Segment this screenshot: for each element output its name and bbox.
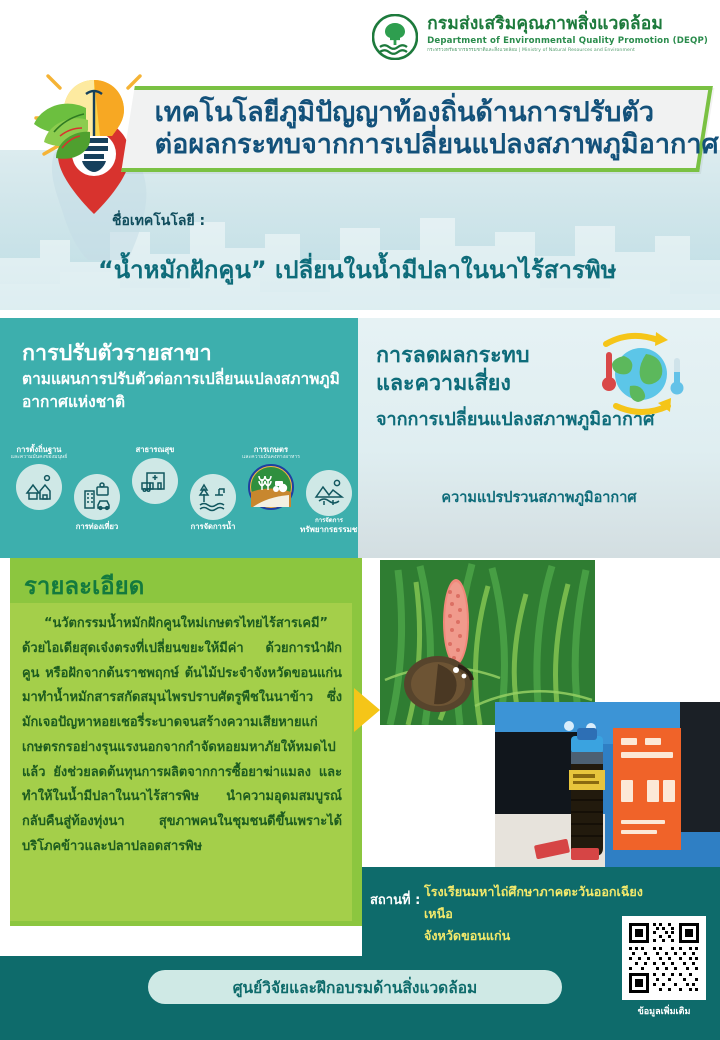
natural-resources-mountain-icon [306, 470, 352, 516]
hero-banner: เทคโนโลยีภูมิปัญญาท้องถิ่นด้านการปรับตัว… [0, 60, 720, 310]
footer-org-pill[interactable]: ศูนย์วิจัยและฝึกอบรมด้านสิ่งแวดล้อม [148, 970, 562, 1004]
fermented-extract-bottle-photo [495, 702, 720, 867]
footer-org-label: ศูนย์วิจัยและฝึกอบรมด้านสิ่งแวดล้อม [233, 975, 478, 1000]
mitigation-heading: การลดผลกระทบ และความเสี่ยง [376, 342, 529, 398]
public-health-hospital-icon [132, 458, 178, 504]
mitigation-heading-line2: และความเสี่ยง [376, 370, 529, 398]
technology-name-value: “น้ำหมักฝักคูน” เปลี่ยนในน้ำมีปลาในนาไร้… [98, 250, 708, 289]
hot-thermometer [602, 352, 616, 391]
sector-icon-row: การตั้งถิ่นฐาน และความมั่นคงของมนุษย์ กา… [6, 446, 354, 554]
sector-item-settlement[interactable]: การตั้งถิ่นฐาน และความมั่นคงของมนุษย์ [10, 446, 68, 510]
right-triangle-arrow-icon [354, 688, 380, 732]
qr-caption: ข้อมูลเพิ่มเติม [622, 1004, 706, 1018]
main-title-plate: เทคโนโลยีภูมิปัญญาท้องถิ่นด้านการปรับตัว… [121, 86, 713, 172]
sector-sublabel-top: การจัดการ [300, 518, 358, 525]
technology-name-label: ชื่อเทคโนโลยี : [112, 210, 205, 232]
sector-item-agriculture[interactable]: การเกษตร และความมั่นคงทางอาหาร [242, 446, 300, 510]
sector-label: การจัดการน้ำ [184, 523, 242, 532]
details-body-text: “นวัตกรรมน้ำหมักฝักคูนใหม่เกษตรไทยไร้สาร… [22, 612, 342, 860]
adaptation-sectors-panel: การปรับตัวรายสาขา ตามแผนการปรับตัวต่อการ… [0, 318, 358, 558]
org-ministry-line: กระทรวงทรัพยากรธรรมชาติและสิ่งแวดล้อม | … [427, 48, 708, 54]
page-title-line2: ต่อผลกระทบจากการเปลี่ยนแปลงสภาพภูมิอากาศ [155, 129, 687, 161]
logo-text-block: กรมส่งเสริมคุณภาพสิ่งแวดล้อม Department … [427, 14, 708, 54]
mitigation-panel: การลดผลกระทบ และความเสี่ยง จากการเปลี่ยน… [358, 318, 720, 558]
sector-label: สาธารณสุข [126, 446, 184, 455]
details-title: รายละเอียด [24, 566, 144, 605]
org-name-thai: กรมส่งเสริมคุณภาพสิ่งแวดล้อม [427, 15, 708, 35]
water-management-tap-icon [190, 474, 236, 520]
location-label: สถานที่ : [370, 889, 420, 910]
sector-sublabel: และความมั่นคงของมนุษย์ [10, 455, 68, 461]
sector-label: การท่องเที่ยว [68, 523, 126, 532]
sector-item-tourism[interactable]: การท่องเที่ยว [68, 474, 126, 532]
mitigation-heading-line1: การลดผลกระทบ [376, 342, 529, 370]
sector-item-natural-resources[interactable]: การจัดการ ทรัพยากรธรรมชาติ [300, 470, 358, 534]
climate-variability-caption: ความแปรปรวนสภาพภูมิอากาศ [358, 486, 720, 509]
left-edge-spacer [0, 558, 10, 956]
adaptation-subheading: ตามแผนการปรับตัวต่อการเปลี่ยนแปลงสภาพภูม… [22, 368, 352, 415]
page-footer: ศูนย์วิจัยและฝึกอบรมด้านสิ่งแวดล้อม [0, 956, 720, 1040]
adaptation-heading: การปรับตัวรายสาขา [22, 336, 212, 370]
cold-thermometer [671, 358, 684, 395]
sector-label: ทรัพยากรธรรมชาติ [300, 525, 358, 534]
sector-item-public-health[interactable]: สาธารณสุข [126, 446, 184, 504]
qr-code-icon[interactable] [622, 916, 706, 1000]
snail-rice-field-photo [380, 560, 595, 725]
org-name-english: Department of Environmental Quality Prom… [427, 36, 708, 47]
deqp-logo: กรมส่งเสริมคุณภาพสิ่งแวดล้อม Department … [372, 14, 708, 60]
sector-item-water[interactable]: การจัดการน้ำ [184, 474, 242, 532]
settlement-houses-icon [16, 464, 62, 510]
deqp-tree-logo-icon [372, 14, 418, 60]
page-title-line1: เทคโนโลยีภูมิปัญญาท้องถิ่นด้านการปรับตัว [155, 97, 687, 129]
tourism-city-car-icon [74, 474, 120, 520]
sector-sublabel: และความมั่นคงทางอาหาร [242, 455, 300, 461]
globe-thermometer-arrows-icon [586, 328, 696, 420]
agriculture-wheat-tractor-icon [248, 464, 294, 510]
